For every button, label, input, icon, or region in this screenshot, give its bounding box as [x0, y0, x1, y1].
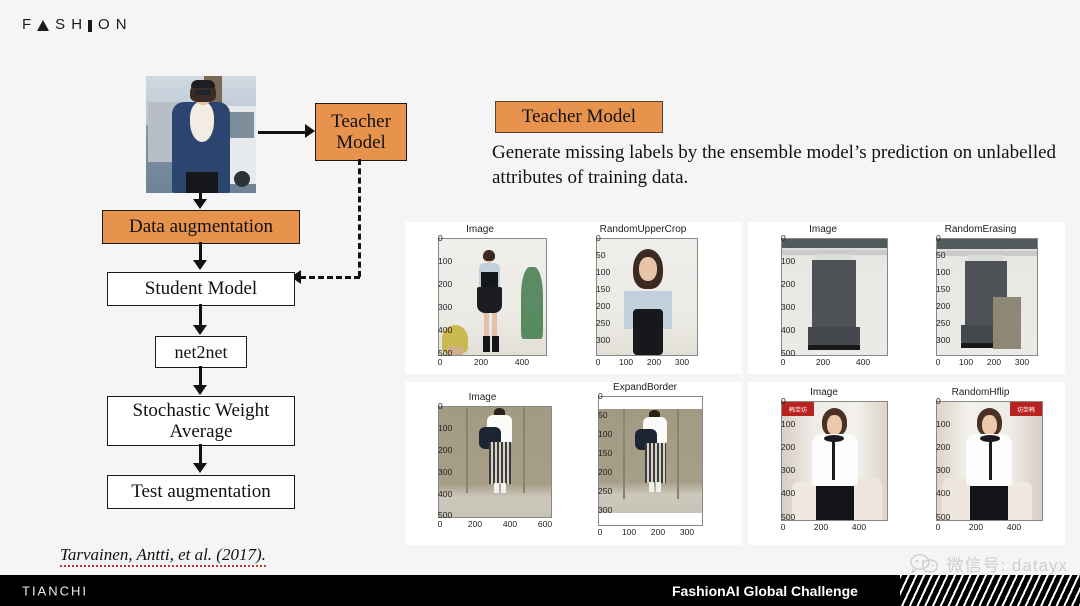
citation-text: Tarvainen, Antti, et al. (2017).: [60, 545, 266, 567]
arrowhead-teacher: [305, 124, 315, 138]
node-student-model-label: Student Model: [145, 278, 257, 299]
subplot-expandborder: ExpandBorder 0 50 100 150: [565, 382, 725, 542]
subplot-image-4: Image 韩茔坊 0 100 200 300 400: [748, 387, 900, 539]
arrowhead-student: [193, 260, 207, 270]
node-student-model[interactable]: Student Model: [107, 272, 295, 306]
node-test-augmentation-label: Test augmentation: [131, 481, 271, 502]
subplot-axes: [936, 238, 1038, 356]
subplot-title: Image: [748, 224, 898, 235]
wechat-watermark-text: 微信号: datayx: [946, 551, 1068, 576]
subplot-axes: 坊茔韩: [936, 401, 1043, 521]
figure-bottom-left: Image 0 100 200 300 400 500: [405, 382, 742, 545]
subplot-title: RandomUpperCrop: [563, 224, 723, 235]
arrowhead-test-augmentation: [193, 463, 207, 473]
node-stochastic-weight-average-label: Stochastic Weight Average: [108, 400, 294, 443]
subplot-title: RandomHflip: [903, 387, 1058, 398]
footer-title: FashionAI Global Challenge: [672, 583, 858, 599]
node-teacher-model-label: Teacher Model: [316, 111, 406, 154]
dashed-teacher-down: [358, 159, 361, 277]
brand-letter-f: F: [22, 16, 37, 33]
subplot-title: Image: [405, 224, 555, 235]
random-erasing-patch: [993, 297, 1021, 349]
triangle-a-icon: [37, 20, 49, 31]
pipeline-flowchart: Teacher Model Data augmentation Student …: [0, 60, 400, 530]
figure-bottom-right: Image 韩茔坊 0 100 200 300 400: [748, 382, 1065, 545]
right-content-column: Teacher Model Generate missing labels by…: [400, 0, 1080, 560]
teacher-model-description: Generate missing labels by the ensemble …: [492, 140, 1072, 190]
subplot-image-2: Image 0 100 200 300 400 500 0 200: [748, 224, 898, 372]
subplot-title: Image: [748, 387, 900, 398]
node-net2net-label: net2net: [175, 342, 228, 362]
node-teacher-model[interactable]: Teacher Model: [315, 103, 407, 161]
brand-letter-n: N: [116, 16, 133, 33]
figure-top-right: Image 0 100 200 300 400 500 0 200: [748, 222, 1065, 374]
subplot-axes: [438, 406, 552, 518]
subplot-randomuppercrop: RandomUpperCrop 0 50 100 150 200 250 300…: [563, 224, 723, 372]
node-test-augmentation[interactable]: Test augmentation: [107, 475, 295, 509]
subplot-image-3: Image 0 100 200 300 400 500: [405, 392, 560, 542]
arrow-net2net-to-swa: [199, 366, 202, 385]
fashion-brand-logo: F S H O N: [22, 16, 133, 33]
teacher-model-badge: Teacher Model: [495, 101, 663, 133]
brand-letter-h: H: [71, 16, 88, 33]
footer-bar: TIANCHI FashionAI Global Challenge: [0, 575, 1080, 606]
subplot-axes: [598, 396, 703, 526]
node-net2net[interactable]: net2net: [155, 336, 247, 368]
node-data-augmentation-label: Data augmentation: [129, 216, 273, 237]
subplot-axes: [438, 238, 547, 356]
arrowhead-dataaug: [193, 199, 207, 209]
subplot-randomhflip: RandomHflip 坊茔韩 0 100 200 300 400: [903, 387, 1058, 539]
subplot-randomerasing: RandomErasing 0 50 100 150 200 250 300: [903, 224, 1058, 372]
brand-letter-o: O: [98, 16, 116, 33]
wechat-watermark: 微信号: datayx: [910, 551, 1068, 576]
shop-tag-right: 坊茔韩: [1010, 402, 1042, 416]
subplot-title: Image: [405, 392, 560, 403]
slide-root: F S H O N Teacher Model Data: [0, 0, 1080, 606]
subplot-axes: 韩茔坊: [781, 401, 888, 521]
teacher-model-badge-label: Teacher Model: [522, 106, 636, 128]
subplot-image-1: Image 0 100 200: [405, 224, 555, 372]
subplot-axes: [596, 238, 698, 356]
dashed-teacher-to-student: [300, 276, 360, 279]
shop-tag-left: 韩茔坊: [782, 402, 814, 416]
tianchi-logo: TIANCHI: [22, 583, 88, 598]
arrow-student-to-net2net: [199, 304, 202, 325]
input-image-thumbnail: [146, 76, 256, 193]
footer-stripes-decoration: [900, 575, 1080, 606]
wechat-icon: [910, 553, 940, 575]
bar-i-icon: [88, 20, 92, 32]
arrow-dataaug-to-student: [199, 242, 202, 261]
citation: Tarvainen, Antti, et al. (2017).: [60, 545, 266, 565]
subplot-axes: [781, 238, 888, 356]
subplot-title: ExpandBorder: [565, 382, 725, 393]
subplot-title: RandomErasing: [903, 224, 1058, 235]
arrow-swa-to-test: [199, 444, 202, 463]
arrowhead-swa: [193, 385, 207, 395]
node-data-augmentation[interactable]: Data augmentation: [102, 210, 300, 244]
node-stochastic-weight-average[interactable]: Stochastic Weight Average: [107, 396, 295, 446]
arrow-image-to-teacher: [258, 131, 306, 134]
brand-letter-s: S: [55, 16, 71, 33]
figure-top-left: Image 0 100 200: [405, 222, 742, 374]
arrowhead-net2net: [193, 325, 207, 335]
